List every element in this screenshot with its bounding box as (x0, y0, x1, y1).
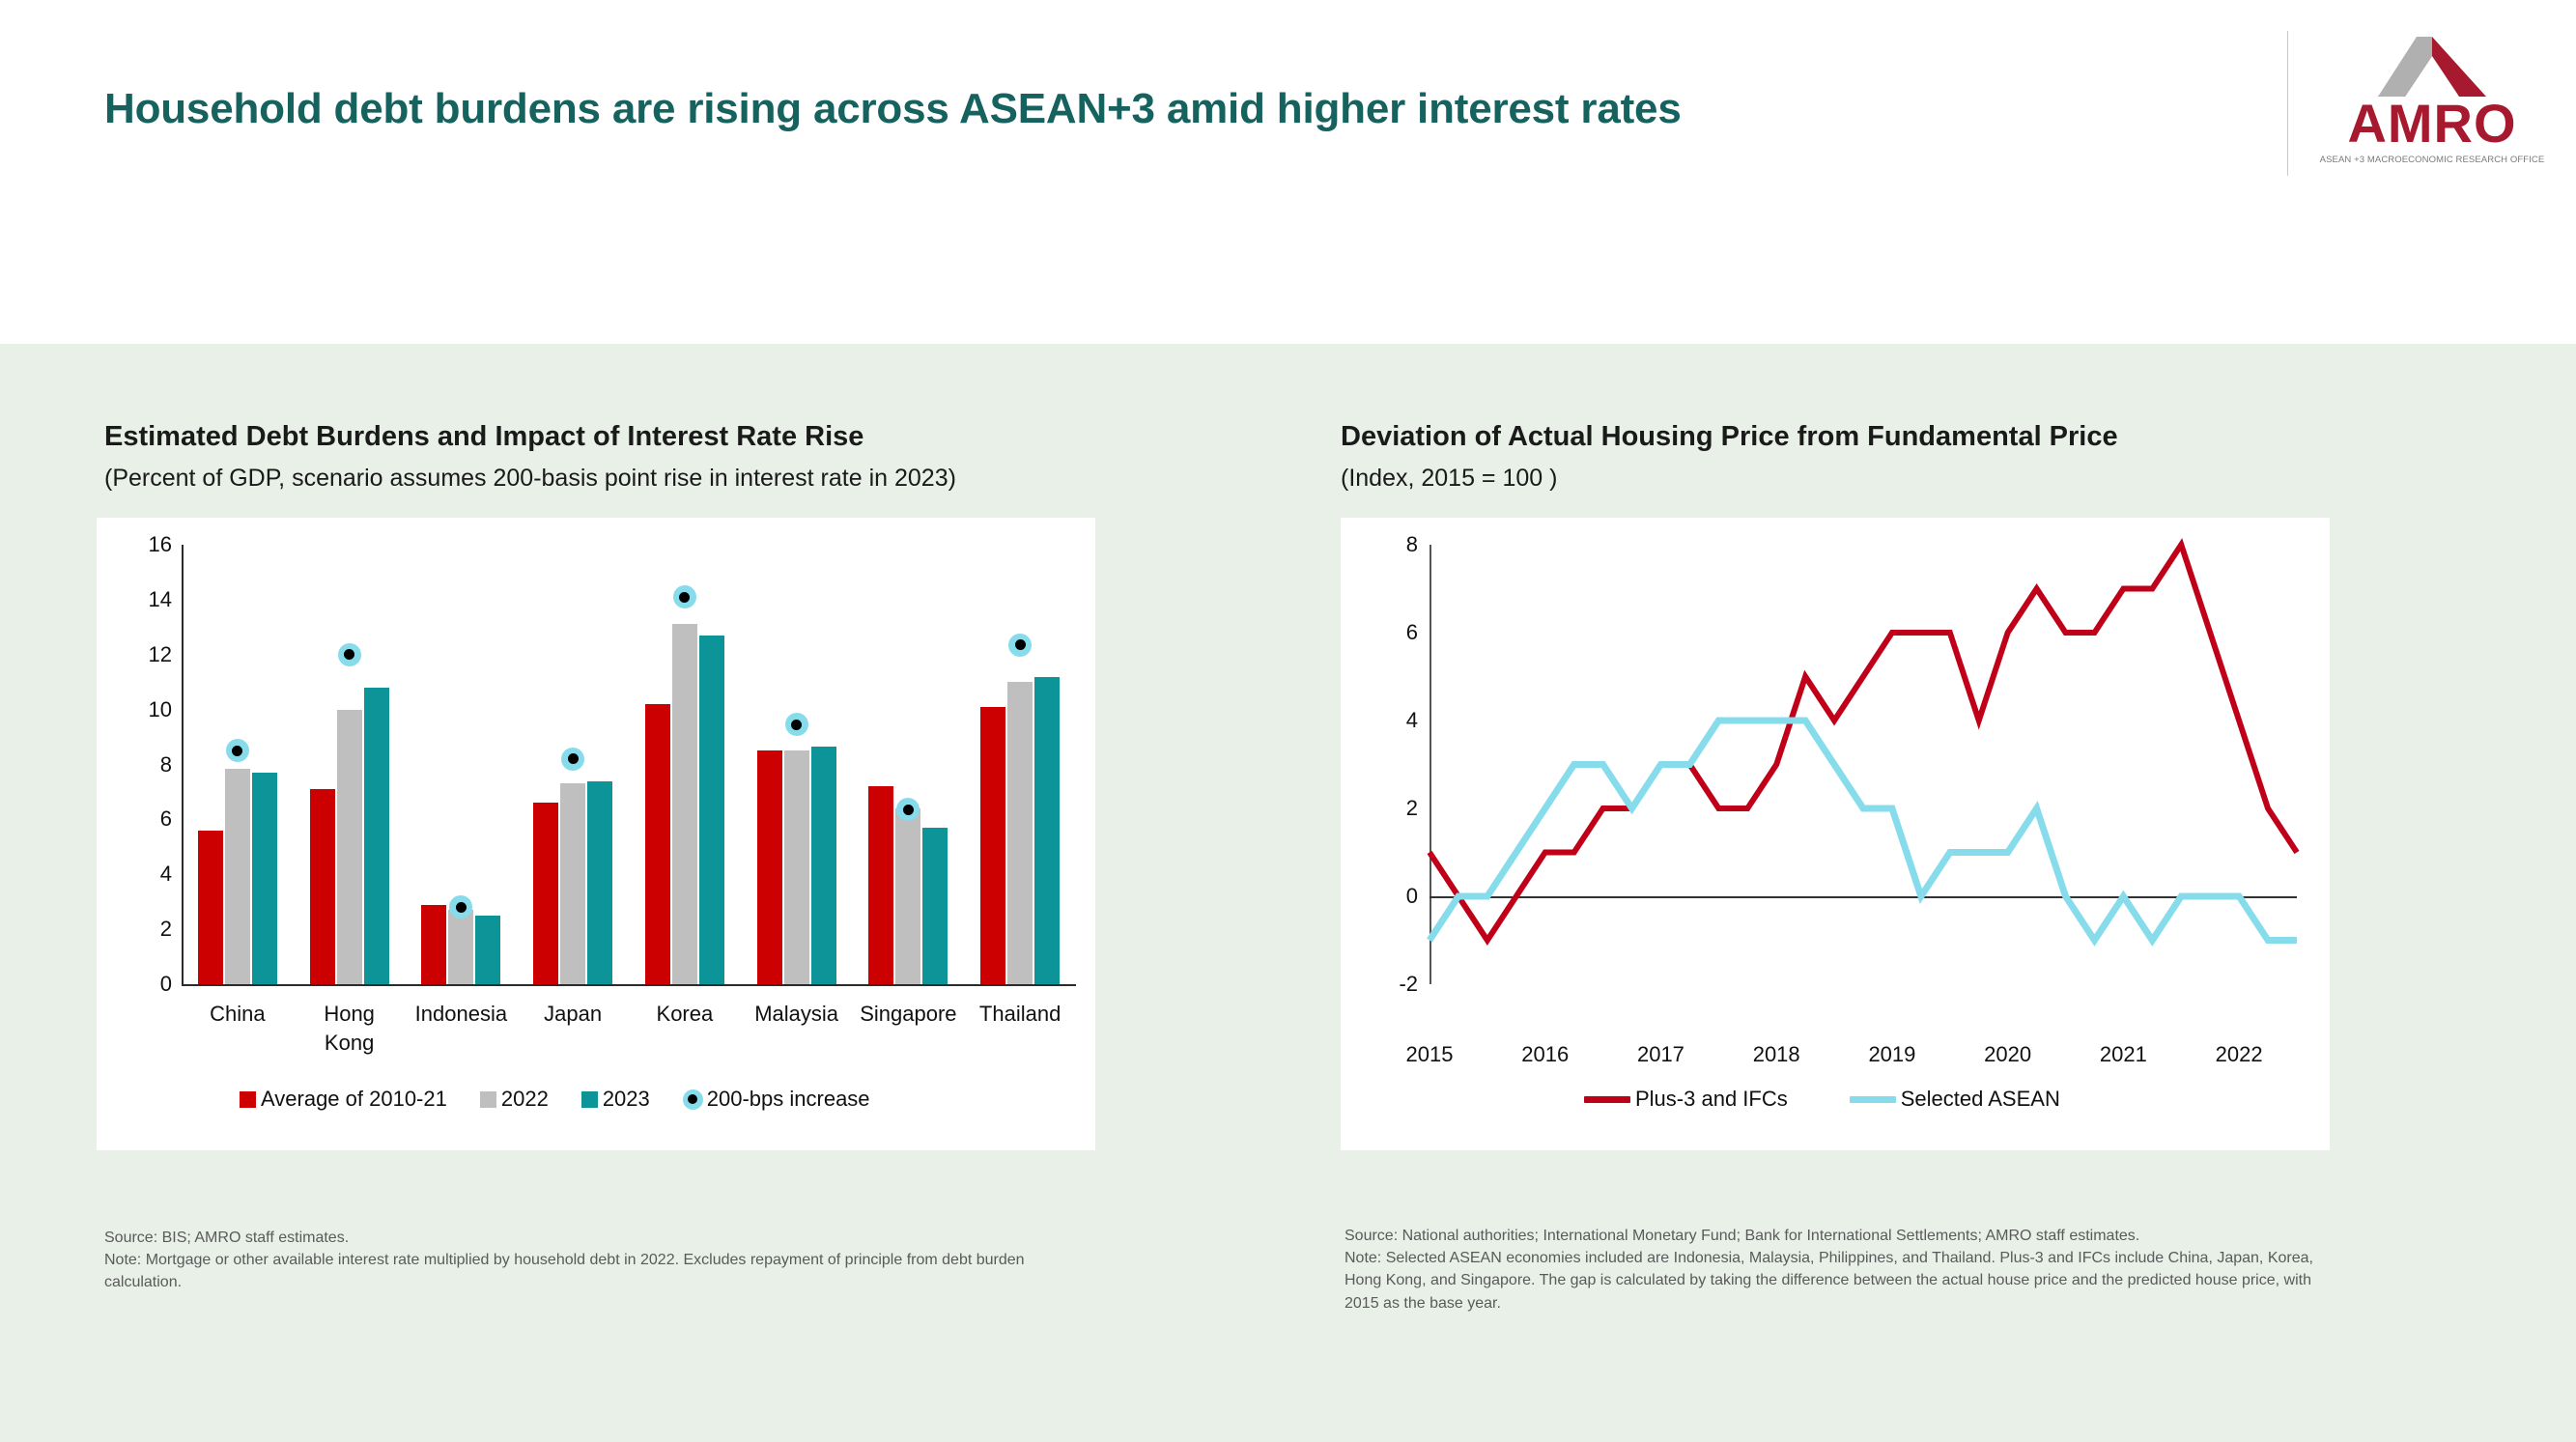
bar-korea-2022 (672, 624, 697, 984)
bar-thailand-2023 (1034, 677, 1060, 985)
bar-malaysia-average-of-2010-21 (757, 750, 782, 984)
bar-singapore-2023 (922, 828, 948, 984)
y-axis-tick-label: 8 (126, 752, 172, 778)
right-note-line: Note: Selected ASEAN economies included … (1345, 1247, 2320, 1315)
x-axis-tick-label-2016: 2016 (1487, 1042, 1603, 1067)
bar-china-2022 (225, 769, 250, 984)
bar-indonesia-average-of-2010-21 (421, 905, 446, 984)
bar-korea-2023 (699, 636, 724, 984)
marker-dot-hong-kong (338, 643, 361, 666)
left-chart-card: 0246810121416ChinaHongKongIndonesiaJapan… (97, 518, 1095, 1150)
marker-dot-japan (561, 748, 584, 771)
legend-swatch-icon (240, 1091, 256, 1108)
x-axis-tick-label-2019: 2019 (1834, 1042, 1950, 1067)
right-source-line: Source: National authorities; Internatio… (1345, 1225, 2320, 1247)
right-source-note: Source: National authorities; Internatio… (1345, 1225, 2320, 1315)
y-axis-tick-label: 0 (126, 972, 172, 997)
right-chart-title: Deviation of Actual Housing Price from F… (1341, 421, 2118, 453)
line-selected-asean (1430, 721, 2297, 941)
legend-item-selected-asean: Selected ASEAN (1850, 1087, 2060, 1112)
bar-china-average-of-2010-21 (198, 831, 223, 984)
legend-item-plus-3-and-ifcs: Plus-3 and IFCs (1584, 1087, 1788, 1112)
y-axis-tick-label: 16 (126, 532, 172, 557)
x-axis-tick-label-thailand: Thailand (943, 1000, 1097, 1029)
marker-dot-thailand (1008, 634, 1032, 657)
amro-tagline: ASEAN +3 MACROECONOMIC RESEARCH OFFICE (2318, 155, 2546, 165)
bar-singapore-2022 (895, 808, 920, 984)
legend-label: Selected ASEAN (1901, 1087, 2060, 1112)
legend-dot-icon (683, 1089, 703, 1110)
legend-swatch-icon (480, 1091, 496, 1108)
amro-wordmark: AMRO (2318, 97, 2546, 151)
bar-chart-legend: Average of 2010-2120222023200-bps increa… (240, 1087, 870, 1112)
y-axis-tick-label: 2 (126, 917, 172, 942)
left-chart-subtitle: (Percent of GDP, scenario assumes 200-ba… (104, 465, 956, 493)
legend-line-icon (1584, 1096, 1630, 1103)
legend-item-2023: 2023 (581, 1087, 650, 1112)
bar-japan-average-of-2010-21 (533, 803, 558, 984)
x-axis-tick-label-2020: 2020 (1950, 1042, 2066, 1067)
header-band: Household debt burdens are rising across… (0, 0, 2576, 344)
x-axis-tick-label-2021: 2021 (2065, 1042, 2181, 1067)
legend-label: 2022 (501, 1087, 549, 1112)
bar-japan-2023 (587, 781, 612, 984)
right-chart-subtitle: (Index, 2015 = 100 ) (1341, 465, 1557, 493)
marker-dot-china (226, 739, 249, 762)
bar-china-2023 (252, 773, 277, 984)
x-axis-tick-label-2015: 2015 (1372, 1042, 1487, 1067)
legend-swatch-icon (581, 1091, 598, 1108)
bar-thailand-2022 (1007, 682, 1033, 984)
bar-singapore-average-of-2010-21 (868, 786, 893, 984)
bar-malaysia-2022 (784, 750, 809, 984)
bar-malaysia-2023 (811, 747, 836, 984)
left-note-line: Note: Mortgage or other available intere… (104, 1249, 1032, 1293)
legend-label: 2023 (603, 1087, 650, 1112)
line-plus-3-and-ifcs (1430, 545, 2297, 941)
legend-item-2022: 2022 (480, 1087, 549, 1112)
x-axis-tick-label-2017: 2017 (1602, 1042, 1718, 1067)
logo-divider (2287, 31, 2288, 176)
bar-hong-kong-2022 (337, 710, 362, 984)
y-axis-tick-label: 6 (126, 806, 172, 832)
legend-label: Plus-3 and IFCs (1635, 1087, 1788, 1112)
housing-price-deviation-line-chart: -20246820152016201720182019202020212022P… (1341, 518, 2330, 1150)
legend-line-icon (1850, 1096, 1896, 1103)
marker-dot-korea (673, 585, 696, 608)
bar-thailand-average-of-2010-21 (980, 707, 1005, 984)
bar-indonesia-2022 (448, 910, 473, 984)
left-source-note: Source: BIS; AMRO staff estimates. Note:… (104, 1227, 1032, 1294)
y-axis-line (182, 545, 184, 984)
y-axis-tick-label: 14 (126, 587, 172, 612)
page-title: Household debt burdens are rising across… (104, 85, 1682, 133)
legend-label: Average of 2010-21 (261, 1087, 447, 1112)
bar-hong-kong-2023 (364, 688, 389, 984)
y-axis-tick-label: 10 (126, 697, 172, 722)
legend-item-200-bps-increase: 200-bps increase (683, 1087, 870, 1112)
y-axis-tick-label: 4 (126, 862, 172, 887)
debt-burden-bar-chart: 0246810121416ChinaHongKongIndonesiaJapan… (97, 518, 1095, 1150)
marker-dot-malaysia (785, 713, 808, 736)
content-band: Estimated Debt Burdens and Impact of Int… (0, 344, 2576, 1442)
x-axis-tick-label-2022: 2022 (2181, 1042, 2297, 1067)
amro-logo: AMRO ASEAN +3 MACROECONOMIC RESEARCH OFF… (2318, 37, 2546, 182)
bar-indonesia-2023 (475, 916, 500, 984)
marker-dot-indonesia (449, 895, 472, 919)
right-chart-card: -20246820152016201720182019202020212022P… (1341, 518, 2330, 1150)
bar-japan-2022 (560, 783, 585, 984)
x-axis-tick-label-2018: 2018 (1718, 1042, 1834, 1067)
bar-korea-average-of-2010-21 (645, 704, 670, 984)
left-source-line: Source: BIS; AMRO staff estimates. (104, 1227, 1032, 1249)
left-chart-title: Estimated Debt Burdens and Impact of Int… (104, 421, 863, 453)
bar-hong-kong-average-of-2010-21 (310, 789, 335, 984)
legend-item-average-of-2010-21: Average of 2010-21 (240, 1087, 447, 1112)
marker-dot-singapore (896, 798, 920, 821)
legend-label: 200-bps increase (707, 1087, 870, 1112)
x-axis-line (182, 984, 1076, 986)
line-chart-legend: Plus-3 and IFCsSelected ASEAN (1584, 1087, 2060, 1112)
y-axis-tick-label: 12 (126, 642, 172, 667)
amro-triangle-mark (2378, 37, 2486, 97)
